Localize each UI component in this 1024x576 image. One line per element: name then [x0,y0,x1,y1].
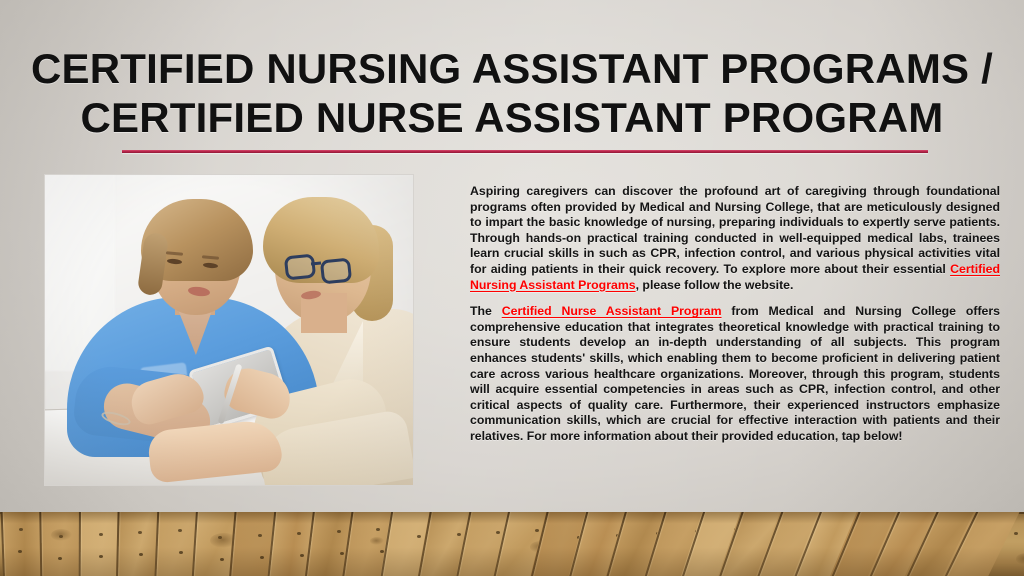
photo-vignette [45,175,413,485]
paragraph-1-text-after-link: , please follow the website. [636,278,794,292]
body-text-column: Aspiring caregivers can discover the pro… [470,184,1000,445]
floor-shading [0,512,1024,576]
paragraph-2-text-before-link: The [470,304,502,318]
wooden-floor [0,512,1024,576]
paragraph-2-text-after-link: from Medical and Nursing College offers … [470,304,1000,443]
title-line-2: CERTIFIED NURSE ASSISTANT PROGRAM [26,93,998,142]
paragraph-1-text-before-link: Aspiring caregivers can discover the pro… [470,184,1000,276]
title-line-1: CERTIFIED NURSING ASSISTANT PROGRAMS / [26,44,998,93]
title-divider [122,150,928,153]
photo-scene [45,175,413,485]
consultation-photo [44,174,414,486]
link-certified-nurse-assistant-program[interactable]: Certified Nurse Assistant Program [502,304,722,318]
paragraph-2: The Certified Nurse Assistant Program fr… [470,304,1000,444]
slide-canvas: CERTIFIED NURSING ASSISTANT PROGRAMS / C… [0,0,1024,576]
paragraph-1: Aspiring caregivers can discover the pro… [470,184,1000,293]
page-title: CERTIFIED NURSING ASSISTANT PROGRAMS / C… [26,44,998,142]
